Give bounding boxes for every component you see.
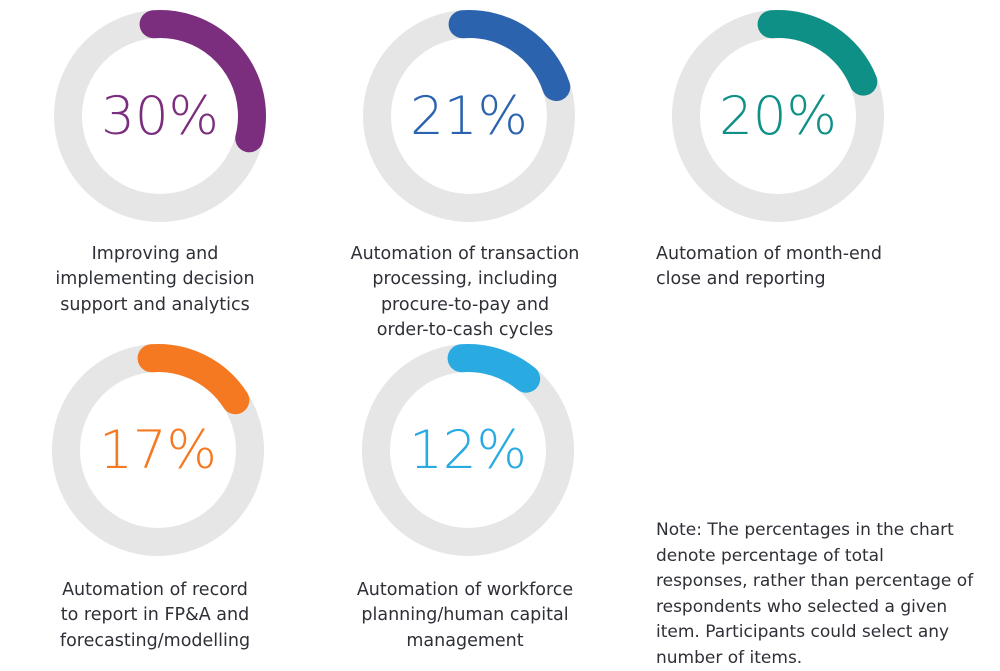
donut-card-4: 12% Automation of workforce planning/hum…	[310, 340, 620, 664]
donut-caption-3: Automation of record to report in FP&A a…	[60, 578, 250, 654]
donut-chart-3: 17%	[52, 344, 264, 556]
donut-caption-1: Automation of transaction processing, in…	[351, 242, 580, 344]
donut-card-0: 30% Improving and implementing decision …	[0, 0, 310, 340]
donut-chart-0: 30%	[54, 10, 266, 222]
donut-chart-grid: 30% Improving and implementing decision …	[0, 0, 1000, 664]
donut-caption-2: Automation of month-end close and report…	[656, 242, 882, 293]
donut-chart-4: 12%	[362, 344, 574, 556]
infographic-root: 30% Improving and implementing decision …	[0, 0, 1000, 664]
note-block: Note: The percentages in the chart denot…	[620, 340, 1000, 664]
donut-card-2: 20% Automation of month-end close and re…	[620, 0, 1000, 340]
donut-value-0: 30%	[54, 10, 266, 222]
donut-value-3: 17%	[52, 344, 264, 556]
donut-chart-1: 21%	[363, 10, 575, 222]
donut-caption-0: Improving and implementing decision supp…	[55, 242, 254, 318]
donut-value-1: 21%	[363, 10, 575, 222]
donut-card-3: 17% Automation of record to report in FP…	[0, 340, 310, 664]
donut-value-2: 20%	[672, 10, 884, 222]
note-text: Note: The percentages in the chart denot…	[656, 518, 974, 671]
donut-card-1: 21% Automation of transaction processing…	[310, 0, 620, 340]
donut-chart-2: 20%	[672, 10, 884, 222]
donut-value-4: 12%	[362, 344, 574, 556]
donut-caption-4: Automation of workforce planning/human c…	[357, 578, 573, 654]
